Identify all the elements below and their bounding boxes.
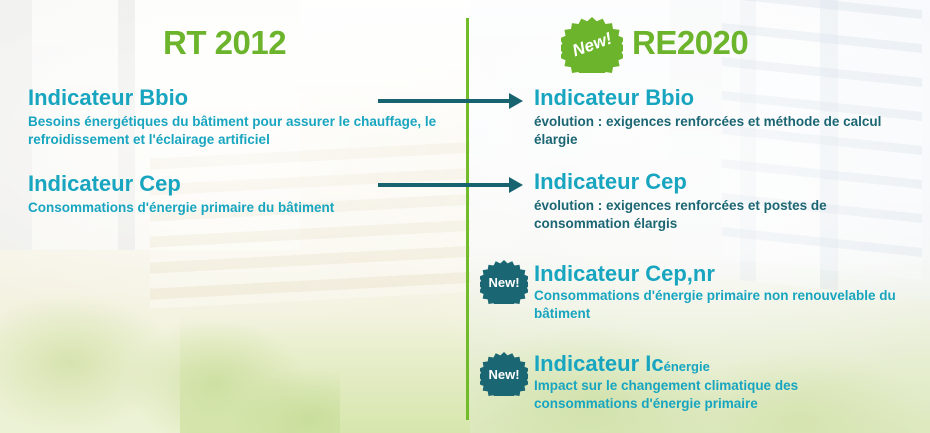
indicator-name-main: Indicateur Ic xyxy=(534,351,664,376)
new-badge-label: New! xyxy=(488,275,519,290)
indicator-cep-rt2012: Indicateur Cep Consommations d'énergie p… xyxy=(28,172,428,217)
indicator-description: Consommations d'énergie primaire du bâti… xyxy=(28,199,428,217)
arrow-head xyxy=(509,177,523,193)
indicator-description: évolution : exigences renforcées et méth… xyxy=(534,113,924,149)
page-title-re2020: RE2020 xyxy=(632,24,748,62)
indicator-cep-re2020: Indicateur Cep évolution : exigences ren… xyxy=(534,170,914,234)
indicator-description: Besoins énergétiques du bâtiment pour as… xyxy=(28,113,458,149)
indicator-ic-energie-re2020: Indicateur Icénergie Impact sur le chang… xyxy=(534,352,894,414)
indicator-name: Indicateur Bbio xyxy=(534,86,924,110)
indicator-name-subscript: énergie xyxy=(664,359,710,374)
column-divider xyxy=(466,18,469,420)
indicator-name: Indicateur Bbio xyxy=(28,86,458,110)
arrow-head xyxy=(509,93,523,109)
indicator-bbio-rt2012: Indicateur Bbio Besoins énergétiques du … xyxy=(28,86,458,150)
indicator-name: Indicateur Cep,nr xyxy=(534,262,926,286)
indicator-name: Indicateur Icénergie xyxy=(534,352,894,376)
indicator-description: Impact sur le changement climatique des … xyxy=(534,377,894,413)
new-badge-label: New! xyxy=(488,367,519,382)
indicator-description: évolution : exigences renforcées et post… xyxy=(534,197,914,233)
indicator-description: Consommations d'énergie primaire non ren… xyxy=(534,287,926,323)
indicator-cepnr-re2020: Indicateur Cep,nr Consommations d'énergi… xyxy=(534,262,926,324)
indicator-name: Indicateur Cep xyxy=(28,172,428,196)
indicator-bbio-re2020: Indicateur Bbio évolution : exigences re… xyxy=(534,86,924,150)
indicator-name: Indicateur Cep xyxy=(534,170,914,194)
new-badge-label: New! xyxy=(569,29,614,62)
page-title-rt2012: RT 2012 xyxy=(163,24,286,62)
infographic-canvas: RT 2012 New! RE2020 Indicateur Bbio Beso… xyxy=(0,0,930,433)
